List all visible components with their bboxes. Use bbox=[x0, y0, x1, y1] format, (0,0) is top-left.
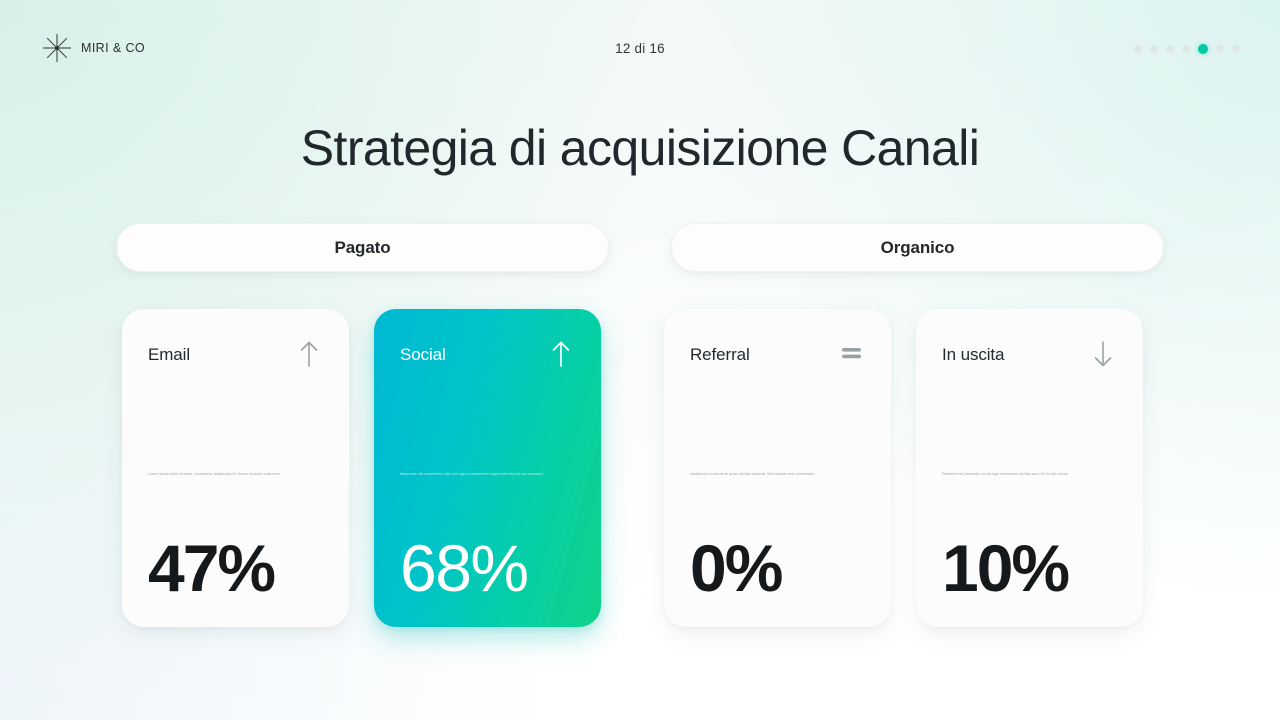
metric-card-in-uscita[interactable]: In uscita Praesent nisl venenatis orci s… bbox=[916, 309, 1143, 627]
metric-card-email[interactable]: Email Lorem ipsum dolor sit amet, consec… bbox=[122, 309, 349, 627]
equals-flat-icon bbox=[837, 339, 865, 369]
pagination-dot[interactable] bbox=[1216, 45, 1224, 53]
slide-canvas: MIRI & CO 12 di 16 Strategia di acquisiz… bbox=[0, 0, 1280, 720]
card-label: Social bbox=[400, 339, 446, 365]
page-title: Strategia di acquisizione Canali bbox=[0, 120, 1280, 176]
card-value: 47% bbox=[148, 535, 323, 601]
card-note: Lorem ipsum dolor sit amet, consectetur … bbox=[148, 472, 323, 477]
pagination-dot[interactable] bbox=[1150, 45, 1158, 53]
arrow-up-icon bbox=[547, 339, 575, 369]
tab-organico[interactable]: Organico bbox=[671, 223, 1164, 272]
card-label: In uscita bbox=[942, 339, 1004, 365]
card-header: Email bbox=[148, 339, 323, 369]
tab-organico-label: Organico bbox=[881, 238, 955, 258]
arrow-up-icon bbox=[295, 339, 323, 369]
card-label: Email bbox=[148, 339, 190, 365]
pagination-dot[interactable] bbox=[1134, 45, 1142, 53]
card-note: Praesent nisl venenatis orci sit eget el… bbox=[942, 472, 1117, 477]
metric-card-referral[interactable]: Referral Vestibulum in mauris sit quam f… bbox=[664, 309, 891, 627]
pagination-dot-active[interactable] bbox=[1198, 44, 1208, 54]
tab-pagato-label: Pagato bbox=[334, 238, 390, 258]
card-header: Referral bbox=[690, 339, 865, 369]
card-value: 0% bbox=[690, 535, 865, 601]
pagination-dot[interactable] bbox=[1166, 45, 1174, 53]
card-header: Social bbox=[400, 339, 575, 369]
card-header: In uscita bbox=[942, 339, 1117, 369]
metric-card-social[interactable]: Social Maecenas nisi consectetur odio se… bbox=[374, 309, 601, 627]
slide-counter: 12 di 16 bbox=[0, 41, 1280, 56]
arrow-down-icon bbox=[1089, 339, 1117, 369]
metric-card-grid: Email Lorem ipsum dolor sit amet, consec… bbox=[122, 309, 1160, 627]
pagination-dot[interactable] bbox=[1232, 45, 1240, 53]
card-value: 68% bbox=[400, 535, 575, 601]
card-label: Referral bbox=[690, 339, 750, 365]
slide-pagination[interactable] bbox=[1134, 41, 1240, 57]
card-value: 10% bbox=[942, 535, 1117, 601]
card-note: Vestibulum in mauris sit quam facilisis … bbox=[690, 472, 865, 477]
pagination-dot[interactable] bbox=[1182, 45, 1190, 53]
channel-tabs: Pagato Organico bbox=[116, 223, 1164, 272]
card-note: Maecenas nisi consectetur odio sed eget … bbox=[400, 472, 575, 477]
tab-pagato[interactable]: Pagato bbox=[116, 223, 609, 272]
